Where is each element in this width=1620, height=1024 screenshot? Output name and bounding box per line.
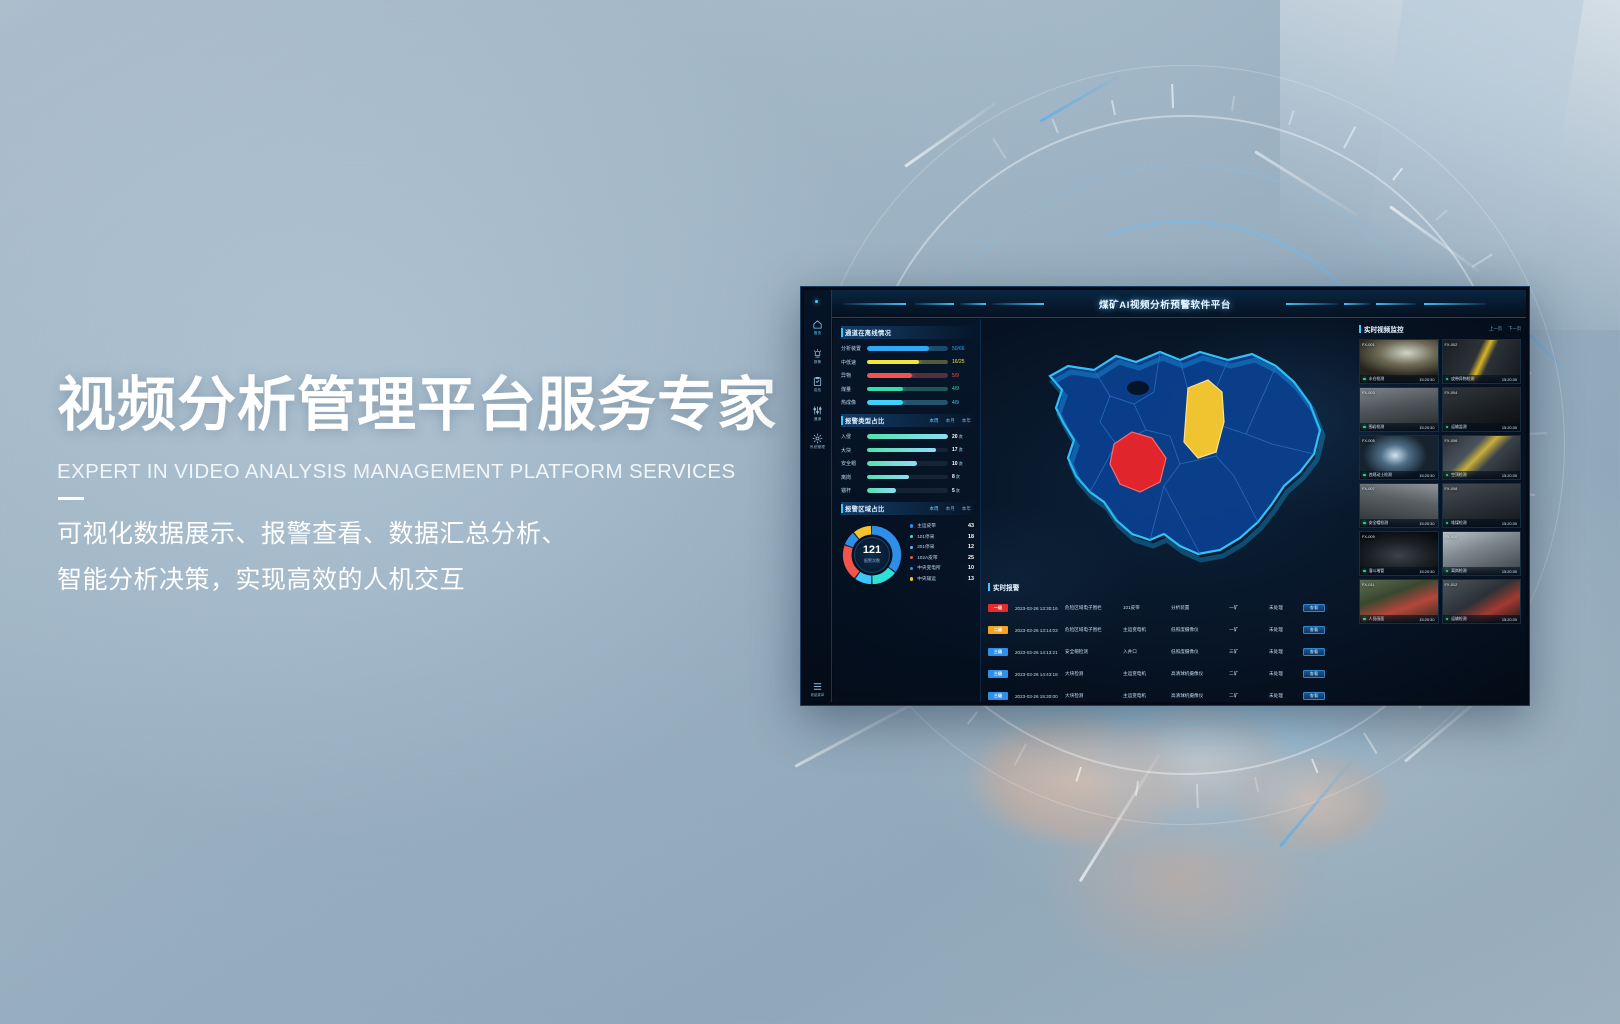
channel-label: 煤量 [841,386,867,393]
video-cell-footer: 堆煤检测15:20:30 [1443,519,1521,527]
channel-value: 50/66 [952,346,974,352]
alarm-status: 未处理 [1269,649,1303,655]
video-camera-name: 运输检测 [1451,616,1502,622]
video-cell[interactable]: FX-004运输监测15:20:30 [1442,387,1522,432]
video-panel-title: 实时视频监控 [1364,324,1404,334]
legend-color-dot [910,556,913,559]
alarm-type: 危险区域电子围栏 [1065,627,1123,633]
dashboard-sidebar: 首页报警巡检通道系统管理 收起菜单 [804,290,832,702]
sidebar-collapse[interactable]: 收起菜单 [804,681,831,697]
background-arm-shadow [1356,0,1584,300]
video-cell[interactable]: FX-005违规动土检测15:20:30 [1359,435,1439,480]
alarm-area-legend: 主运皮带43101停采18201停采12102A皮带25中央变电所10中央辅运1… [903,523,974,587]
alarm-area-panel: 报警区域占比 本周本月本年 121 报警次数 主运皮带43101停采18201停… [841,502,974,587]
video-camera-id: FX-008 [1445,486,1458,491]
alarm-type-label: 锚杆 [841,487,867,494]
alarm-device: 低照度摄像仪 [1171,627,1229,633]
alarm-type-label: 离岗 [841,474,867,481]
sidebar-item-label: 系统管理 [804,446,831,450]
video-cell-footer: 人员画面15:20:30 [1360,615,1438,623]
status-badge: 三级 [988,648,1008,656]
background-arm-photo [1280,0,1620,330]
sidebar-item-首页[interactable]: 首页 [804,312,831,341]
video-camera-id: FX-003 [1362,390,1375,395]
view-button[interactable]: 查看 [1303,604,1325,613]
video-monitor-panel: 实时视频监控 上一页 下一页 FX-001水仓检测15:20:30FX-002皮… [1354,319,1526,702]
dashboard-left-column: 通道在离线情况 分析装置50/66中低速16/25异物5/9煤量4/9热成像4/… [833,319,981,702]
dashboard-monitor: 煤矿AI视频分析预警软件平台 首页报警巡检通道系统管理 收起菜单 通道在离线情况… [800,286,1530,706]
alarm-location: 入井口 [1123,649,1171,655]
table-row: 二级2023-03-26 13:14:03危险区域电子围栏主运变电机低照度摄像仪… [988,619,1353,641]
video-camera-id: FX-006 [1445,438,1458,443]
alarm-location: 101皮带 [1123,605,1171,611]
video-cell-footer: 围岩检测15:20:30 [1360,423,1438,431]
video-next-page[interactable]: 下一页 [1508,326,1521,332]
channel-progress-bar [867,346,948,350]
donut-center: 121 报警次数 [854,537,890,573]
alarm-type-title: 报警类型占比 [845,416,885,425]
alarm-type-label: 入侵 [841,433,867,440]
online-status-dot [1446,474,1449,477]
view-button[interactable]: 查看 [1303,626,1325,635]
channel-progress-bar [867,387,948,391]
video-cell-footer: 安全帽检测15:20:30 [1360,519,1438,527]
online-status-dot [1446,426,1449,429]
video-camera-id: FX-012 [1445,582,1458,587]
sidebar-indicator-dot [815,300,818,303]
video-timestamp: 15:20:30 [1419,425,1434,430]
video-timestamp: 15:20:30 [1502,473,1517,478]
video-prev-page[interactable]: 上一页 [1489,326,1502,332]
view-button[interactable]: 查看 [1303,692,1325,701]
video-timestamp: 15:20:30 [1502,521,1517,526]
legend-color-dot [910,546,913,549]
clipboard-check-icon [812,376,823,387]
sidebar-item-label: 通道 [804,418,831,422]
channel-status-row: 煤量4/9 [841,386,974,393]
legend-color-dot [910,524,913,527]
alarm-mine: 一矿 [1229,627,1269,633]
video-cell-footer: 溜斗堵管15:20:30 [1360,567,1438,575]
online-status-dot [1446,522,1449,525]
alarm-area-legend-row: 201停采12 [910,544,974,550]
hero-subtitle: EXPERT IN VIDEO ANALYSIS MANAGEMENT PLAT… [57,460,817,484]
video-timestamp: 15:20:30 [1502,425,1517,430]
legend-label: 主运皮带 [917,523,968,529]
channel-progress-bar [867,373,948,377]
video-camera-id: FX-009 [1362,534,1375,539]
alarm-status: 未处理 [1269,671,1303,677]
hero-description-line-2: 智能分析决策，实现高效的人机交互 [57,557,817,603]
alarm-area-legend-row: 主运皮带43 [910,523,974,529]
online-status-dot [1446,618,1449,621]
channel-value: 4/9 [952,386,974,392]
video-camera-name: 堆煤检测 [1451,520,1502,526]
video-cell[interactable]: FX-008堆煤检测15:20:30 [1442,483,1522,528]
channel-status-panel: 通道在离线情况 分析装置50/66中低速16/25异物5/9煤量4/9热成像4/… [841,326,974,406]
channel-value: 5/9 [952,373,974,379]
alarm-type: 安全帽检测 [1065,649,1123,655]
video-camera-name: 围岩检测 [1369,424,1420,430]
alarm-type-panel: 报警类型占比 本周本月本年 入侵20次大块17次安全帽10次离岗8次锚杆5次 [841,414,974,494]
legend-value: 25 [968,555,974,561]
online-status-dot [1446,378,1449,381]
hero-block: 视频分析管理平台服务专家 EXPERT IN VIDEO ANALYSIS MA… [57,372,817,603]
alarm-mine: 三矿 [1229,649,1269,655]
online-status-dot [1363,426,1366,429]
video-cell-footer: 运输监测15:20:30 [1443,423,1521,431]
dashboard-header: 煤矿AI视频分析预警软件平台 [804,290,1526,318]
legend-label: 102A皮带 [917,555,968,561]
legend-value: 13 [968,576,974,582]
video-camera-id: FX-011 [1362,582,1374,587]
home-icon [812,319,823,330]
page-title: 视频分析管理平台服务专家 [57,372,817,440]
legend-color-dot [910,567,913,570]
video-cell[interactable]: FX-007安全帽检测15:20:30 [1359,483,1439,528]
video-camera-id: FX-002 [1445,342,1458,347]
alarm-area-tab-本年[interactable]: 本年 [962,506,971,512]
video-cell[interactable]: FX-010离岗检测15:20:30 [1442,531,1522,576]
alarm-time: 2023-03-26 14:43:18 [1015,672,1065,677]
video-camera-id: FX-005 [1362,438,1375,443]
online-status-dot [1363,570,1366,573]
alarm-mine: 二矿 [1229,671,1269,677]
alarm-type-value: 17次 [952,447,974,453]
alarm-type: 大块检测 [1065,693,1123,699]
alarm-area-tab-本周[interactable]: 本周 [929,506,938,512]
online-status-dot [1363,378,1366,381]
alarm-mine: 一矿 [1229,605,1269,611]
alarm-area-title: 报警区域占比 [845,504,885,513]
channel-progress-bar [867,360,948,364]
alarm-type-progress-bar [867,461,948,465]
sidebar-item-label: 报警 [804,361,831,365]
dashboard-title: 煤矿AI视频分析预警软件平台 [1099,297,1231,311]
video-cell[interactable]: FX-011人员画面15:20:30 [1359,579,1439,624]
video-cell-footer: 违规动土检测15:20:30 [1360,471,1438,479]
status-badge: 二级 [988,626,1008,634]
channel-value: 4/9 [952,400,974,406]
legend-label: 201停采 [917,544,968,550]
legend-color-dot [910,535,913,538]
video-pager: 上一页 下一页 [1489,326,1521,332]
channel-label: 异物 [841,372,867,379]
alarm-area-tabs[interactable]: 本周本月本年 [929,506,974,512]
video-camera-id: FX-004 [1445,390,1458,395]
channel-status-row: 热成像4/9 [841,399,974,406]
alarm-type: 大块检测 [1065,671,1123,677]
online-status-dot [1363,474,1366,477]
alarm-area-tab-本月[interactable]: 本月 [946,506,955,512]
alarm-time: 2023-03-26 14:13:21 [1015,650,1065,655]
alarm-type-tabs[interactable]: 本周本月本年 [929,418,974,424]
alarm-total-caption: 报警次数 [864,558,880,564]
video-cell-footer: 离岗检测15:20:30 [1443,567,1521,575]
alarm-area-donut-chart: 121 报警次数 [841,524,903,586]
video-cell[interactable]: FX-012运输检测15:20:30 [1442,579,1522,624]
alarm-type-row: 离岗8次 [841,474,974,481]
alarm-device: 分析装置 [1171,605,1229,611]
alarm-time: 2023-03-26 13:14:03 [1015,628,1065,633]
table-row: 三级2023-03-26 15:30:00大块检测主运变电机高清球机摄像仪二矿未… [988,685,1353,702]
online-status-dot [1363,618,1366,621]
legend-value: 43 [968,523,974,529]
alarm-light-icon [812,348,823,359]
alarm-location: 主运变电机 [1123,693,1171,699]
alarm-type-progress-bar [867,434,948,438]
video-camera-id: FX-007 [1362,486,1375,491]
alarm-area-legend-row: 中央辅运13 [910,576,974,582]
alarm-time: 2023-03-26 15:30:00 [1015,694,1065,699]
view-button[interactable]: 查看 [1303,670,1325,679]
video-camera-name: 人员画面 [1369,616,1420,622]
channel-status-title: 通道在离线情况 [845,328,891,337]
legend-label: 中央变电所 [917,565,968,571]
online-status-dot [1363,522,1366,525]
video-camera-name: 溜斗堵管 [1369,568,1420,574]
channel-status-header: 通道在离线情况 [841,326,974,339]
alarm-type-tab-本月[interactable]: 本月 [946,418,955,424]
sidebar-item-报警[interactable]: 报警 [804,341,831,370]
video-cell[interactable]: FX-003围岩检测15:20:30 [1359,387,1439,432]
channel-value: 16/25 [952,359,974,365]
alarm-location: 主运变电机 [1123,627,1171,633]
collapse-icon [812,681,823,692]
alarm-device: 低照度摄像仪 [1171,649,1229,655]
alarm-type-row: 安全帽10次 [841,460,974,467]
legend-value: 12 [968,544,974,550]
realtime-alarm-title: 实时报警 [993,582,1019,592]
channel-label: 分析装置 [841,345,867,352]
video-camera-name: 违规动土检测 [1369,472,1420,478]
alarm-device: 高清球机摄像仪 [1171,693,1229,699]
online-status-dot [1446,570,1449,573]
video-cell[interactable]: FX-006空顶检测15:20:30 [1442,435,1522,480]
alarm-type-value: 10次 [952,461,974,467]
alarm-type-value: 5次 [952,488,974,494]
region-map[interactable] [982,320,1354,582]
sidebar-item-系统管理[interactable]: 系统管理 [804,426,831,455]
alarm-type-tab-本年[interactable]: 本年 [962,418,971,424]
video-cell-footer: 水仓检测15:20:30 [1360,375,1438,383]
alarm-type-progress-bar [867,488,948,492]
alarm-type-label: 安全帽 [841,460,867,467]
sidebar-item-通道[interactable]: 通道 [804,398,831,427]
video-camera-name: 安全帽检测 [1369,520,1420,526]
status-badge: 三级 [988,692,1008,700]
video-camera-name: 空顶检测 [1451,472,1502,478]
sidebar-item-label: 巡检 [804,389,831,393]
video-camera-id: FX-010 [1445,534,1458,539]
video-timestamp: 15:20:30 [1419,473,1434,478]
alarm-type-progress-bar [867,475,948,479]
alarm-area-header: 报警区域占比 本周本月本年 [841,502,974,515]
alarm-area-legend-row: 102A皮带25 [910,555,974,561]
alarm-type-value: 20次 [952,434,974,440]
dashboard-screen: 煤矿AI视频分析预警软件平台 首页报警巡检通道系统管理 收起菜单 通道在离线情况… [804,290,1526,702]
video-cell-footer: 空顶检测15:20:30 [1443,471,1521,479]
video-timestamp: 15:20:30 [1419,521,1434,526]
alarm-type-tab-本周[interactable]: 本周 [929,418,938,424]
gear-icon [812,433,823,444]
alarm-area-legend-row: 101停采18 [910,534,974,540]
alarm-location: 主运变电机 [1123,671,1171,677]
legend-color-dot [910,577,913,580]
channel-status-row: 异物5/9 [841,372,974,379]
legend-label: 中央辅运 [917,576,968,582]
video-camera-name: 离岗检测 [1451,568,1502,574]
legend-value: 18 [968,534,974,540]
video-timestamp: 15:20:30 [1502,569,1517,574]
alarm-type-row: 入侵20次 [841,433,974,440]
alarm-type-row: 大块17次 [841,447,974,454]
hero-divider [58,497,84,500]
channel-label: 热成像 [841,399,867,406]
video-panel-header: 实时视频监控 上一页 下一页 [1359,324,1521,334]
video-camera-name: 水仓检测 [1369,376,1420,382]
video-timestamp: 15:20:30 [1502,617,1517,622]
video-cell-footer: 皮带异物检测15:20:30 [1443,375,1521,383]
legend-label: 101停采 [917,534,968,540]
channel-status-row: 中低速16/25 [841,359,974,366]
video-timestamp: 15:20:30 [1419,377,1434,382]
legend-value: 10 [968,565,974,571]
view-button[interactable]: 查看 [1303,648,1325,657]
realtime-alarm-section: 实时报警 一级2023-03-26 13:30:16危险区域电子围栏101皮带分… [982,578,1353,702]
table-row: 三级2023-03-26 14:13:21安全帽检测入井口低照度摄像仪三矿未处理… [988,641,1353,663]
channel-label: 中低速 [841,359,867,366]
alarm-type-header: 报警类型占比 本周本月本年 [841,414,974,427]
channel-progress-bar [867,400,948,404]
table-row: 一级2023-03-26 13:30:16危险区域电子围栏101皮带分析装置一矿… [988,597,1353,619]
alarm-status: 未处理 [1269,693,1303,699]
video-cell[interactable]: FX-001水仓检测15:20:30 [1359,339,1439,384]
status-badge: 三级 [988,670,1008,678]
sidebar-collapse-label: 收起菜单 [804,694,831,697]
alarm-area-chart-wrap: 121 报警次数 主运皮带43101停采18201停采12102A皮带25中央变… [841,521,974,587]
sidebar-item-巡检[interactable]: 巡检 [804,369,831,398]
alarm-type-progress-bar [867,448,948,452]
video-timestamp: 15:20:30 [1419,617,1434,622]
alarm-mine: 二矿 [1229,693,1269,699]
video-cell-footer: 运输检测15:20:30 [1443,615,1521,623]
alarm-type: 危险区域电子围栏 [1065,605,1123,611]
channel-sliders-icon [812,405,823,416]
video-camera-id: FX-001 [1362,342,1375,347]
alarm-type-label: 大块 [841,447,867,454]
alarm-total-count: 121 [863,545,881,556]
video-cell[interactable]: FX-002皮带异物检测15:20:30 [1442,339,1522,384]
alarm-status: 未处理 [1269,605,1303,611]
video-camera-name: 皮带异物检测 [1451,376,1502,382]
video-timestamp: 15:20:30 [1419,569,1434,574]
alarm-area-legend-row: 中央变电所10 [910,565,974,571]
video-timestamp: 15:20:30 [1502,377,1517,382]
sidebar-item-label: 首页 [804,332,831,336]
realtime-alarm-header: 实时报警 [988,582,1353,592]
hero-description-line-1: 可视化数据展示、报警查看、数据汇总分析、 [57,511,817,557]
table-row: 三级2023-03-26 14:43:18大块检测主运变电机高清球机摄像仪二矿未… [988,663,1353,685]
alarm-time: 2023-03-26 13:30:16 [1015,606,1065,611]
video-camera-name: 运输监测 [1451,424,1502,430]
channel-status-row: 分析装置50/66 [841,345,974,352]
alarm-type-value: 8次 [952,474,974,480]
alarm-type-row: 锚杆5次 [841,487,974,494]
status-badge: 一级 [988,604,1008,612]
video-cell[interactable]: FX-009溜斗堵管15:20:30 [1359,531,1439,576]
alarm-status: 未处理 [1269,627,1303,633]
alarm-device: 高清球机摄像仪 [1171,671,1229,677]
